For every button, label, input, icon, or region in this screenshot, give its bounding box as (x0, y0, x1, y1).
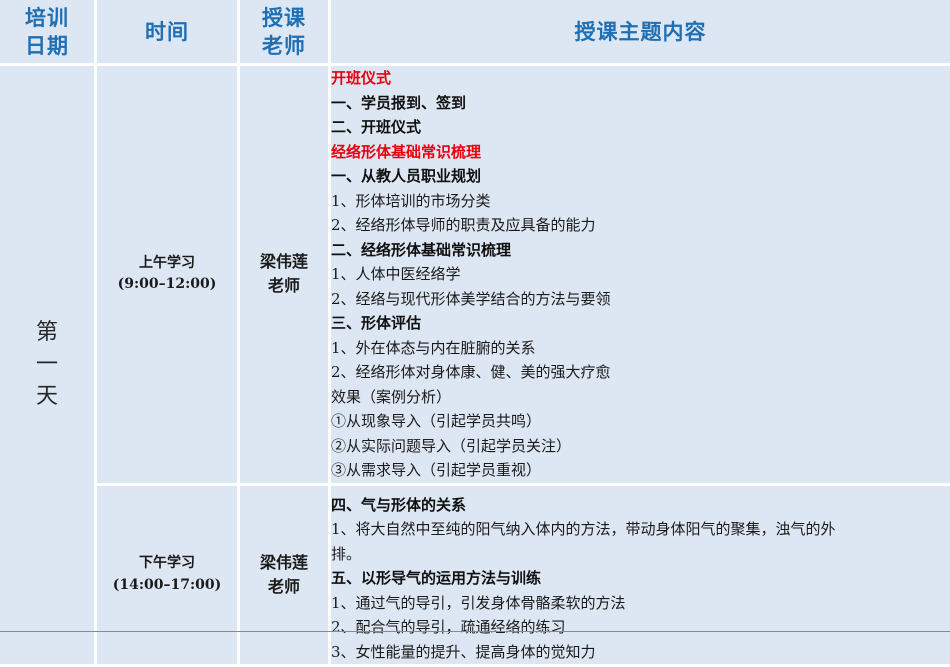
content-line: 二、经络形体基础常识梳理 (331, 238, 950, 263)
content-line: 1、通过气的导引，引发身体骨骼柔软的方法 (331, 591, 950, 616)
cell-teacher-afternoon: 梁伟莲 老师 (240, 486, 331, 667)
content-line: 经络形体基础常识梳理 (331, 140, 950, 165)
content-line: 1、外在体态与内在脏腑的关系 (331, 336, 950, 361)
table-bottom-rule (0, 631, 950, 632)
content-line-list: 四、气与形体的关系1、将大自然中至纯的阳气纳入体内的方法，带动身体阳气的聚集，浊… (331, 493, 950, 665)
table-row: 第 一 天 上午学习 (9:00–12:00) 梁伟莲 老师 开班仪式一、学员报… (0, 66, 950, 486)
content-line: 排。 (331, 542, 950, 567)
day-label: 第 一 天 (36, 317, 58, 413)
cell-content-afternoon: 四、气与形体的关系1、将大自然中至纯的阳气纳入体内的方法，带动身体阳气的聚集，浊… (331, 486, 950, 667)
content-line: 2、经络与现代形体美学结合的方法与要领 (331, 287, 950, 312)
cell-teacher-morning: 梁伟莲 老师 (240, 66, 331, 486)
cell-training-day: 第 一 天 (0, 66, 97, 667)
content-line: 1、人体中医经络学 (331, 262, 950, 287)
content-line: 效果（案例分析） (331, 385, 950, 410)
cell-content-morning: 开班仪式一、学员报到、签到二、开班仪式经络形体基础常识梳理一、从教人员职业规划1… (331, 66, 950, 486)
column-header-time: 时间 (97, 0, 240, 66)
content-line: 1、形体培训的市场分类 (331, 189, 950, 214)
content-line: 五、以形导气的运用方法与训练 (331, 566, 950, 591)
content-line: 2、经络形体对身体康、健、美的强大疗愈 (331, 360, 950, 385)
content-line: 一、学员报到、签到 (331, 91, 950, 116)
content-line-list: 开班仪式一、学员报到、签到二、开班仪式经络形体基础常识梳理一、从教人员职业规划1… (331, 66, 950, 483)
content-line: 2、配合气的导引，疏通经络的练习 (331, 615, 950, 640)
content-line: 3、女性能量的提升、提高身体的觉知力 (331, 640, 950, 665)
content-line: 四、气与形体的关系 (331, 493, 950, 518)
content-line: ③从需求导入（引起学员重视） (331, 458, 950, 483)
schedule-table-container: 培训 日期 时间 授课 老师 授课主题内容 第 一 天 上午学习 (9:00–1… (0, 0, 950, 634)
content-line: 1、将大自然中至纯的阳气纳入体内的方法，带动身体阳气的聚集，浊气的外 (331, 517, 950, 542)
table-row: 下午学习 (14:00–17:00) 梁伟莲 老师 四、气与形体的关系1、将大自… (0, 486, 950, 667)
content-line: 三、形体评估 (331, 311, 950, 336)
column-header-training-date: 培训 日期 (0, 0, 97, 66)
content-line: 开班仪式 (331, 66, 950, 91)
training-schedule-table: 培训 日期 时间 授课 老师 授课主题内容 第 一 天 上午学习 (9:00–1… (0, 0, 950, 667)
content-line: ②从实际问题导入（引起学员关注） (331, 434, 950, 459)
content-line: 一、从教人员职业规划 (331, 164, 950, 189)
column-header-topic-content: 授课主题内容 (331, 0, 950, 66)
table-header-row: 培训 日期 时间 授课 老师 授课主题内容 (0, 0, 950, 66)
content-line: 2、经络形体导师的职责及应具备的能力 (331, 213, 950, 238)
cell-time-afternoon: 下午学习 (14:00–17:00) (97, 486, 240, 667)
column-header-teacher: 授课 老师 (240, 0, 331, 66)
cell-time-morning: 上午学习 (9:00–12:00) (97, 66, 240, 486)
content-line: 二、开班仪式 (331, 115, 950, 140)
content-line: ①从现象导入（引起学员共鸣） (331, 409, 950, 434)
